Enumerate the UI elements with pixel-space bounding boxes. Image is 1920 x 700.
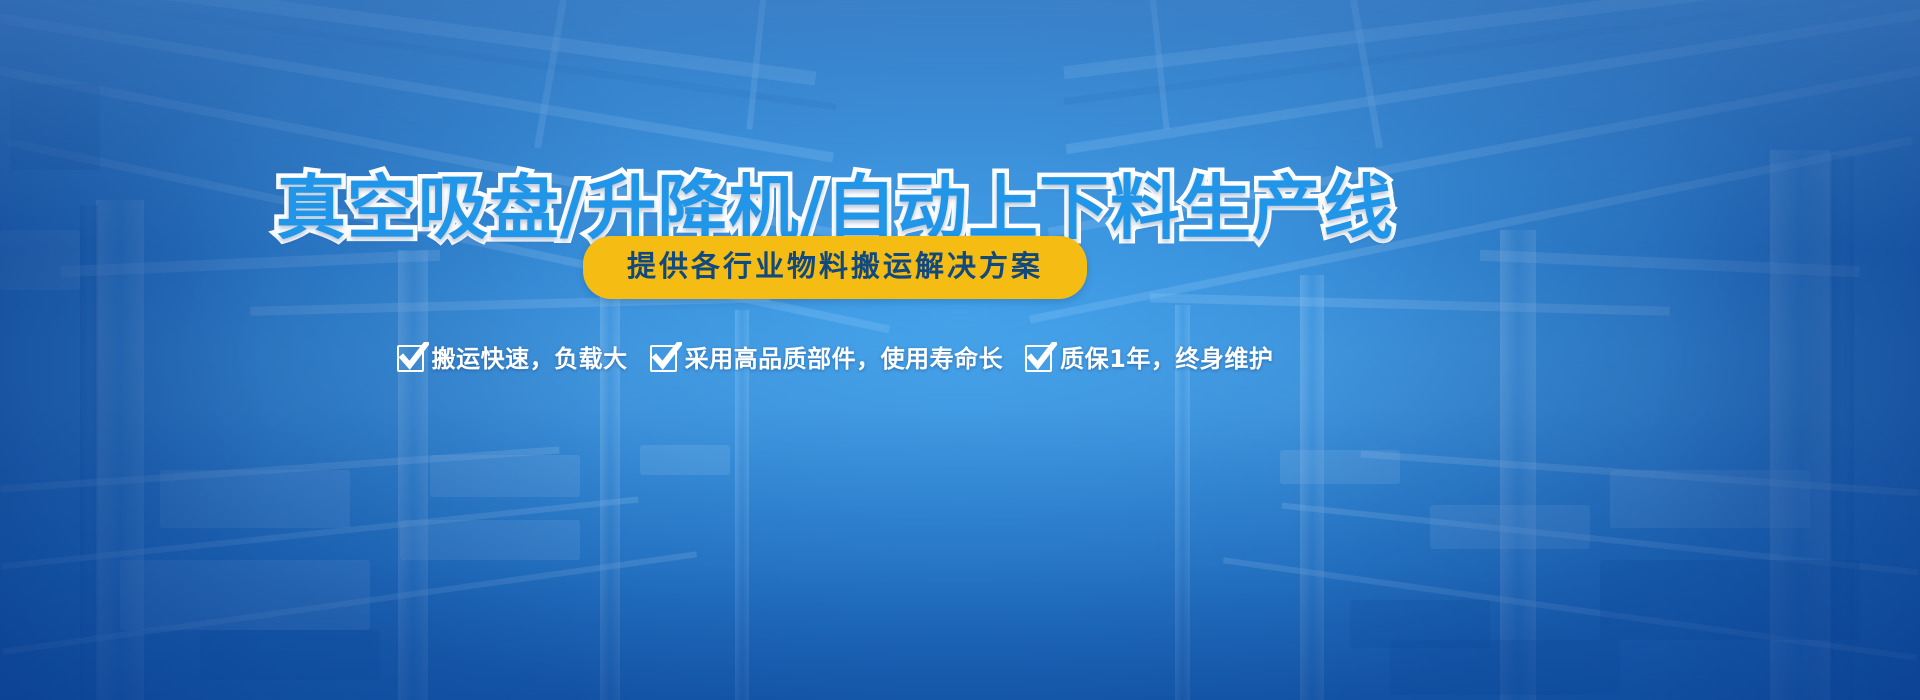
subtitle-badge: 提供各行业物料搬运解决方案 <box>583 236 1087 299</box>
banner-headline: 真空吸盘/升降机/自动上下料生产线 <box>0 173 1920 243</box>
feature-item: 采用高品质部件，使用寿命长 <box>650 345 1004 372</box>
check-icon <box>1025 345 1052 372</box>
check-icon <box>397 345 424 372</box>
hero-banner: 真空吸盘/升降机/自动上下料生产线 提供各行业物料搬运解决方案 搬运快速，负载大 <box>0 0 1920 700</box>
feature-item: 搬运快速，负载大 <box>397 345 628 372</box>
feature-item: 质保1年，终身维护 <box>1025 345 1273 372</box>
check-icon <box>650 345 677 372</box>
feature-list: 搬运快速，负载大 采用高品质部件，使用寿命长 <box>0 345 1920 372</box>
banner-content: 真空吸盘/升降机/自动上下料生产线 提供各行业物料搬运解决方案 搬运快速，负载大 <box>0 0 1920 700</box>
badge-row: 提供各行业物料搬运解决方案 <box>0 236 1920 299</box>
feature-label: 搬运快速，负载大 <box>432 347 628 371</box>
feature-label: 质保1年，终身维护 <box>1060 347 1273 371</box>
feature-label: 采用高品质部件，使用寿命长 <box>685 347 1004 371</box>
